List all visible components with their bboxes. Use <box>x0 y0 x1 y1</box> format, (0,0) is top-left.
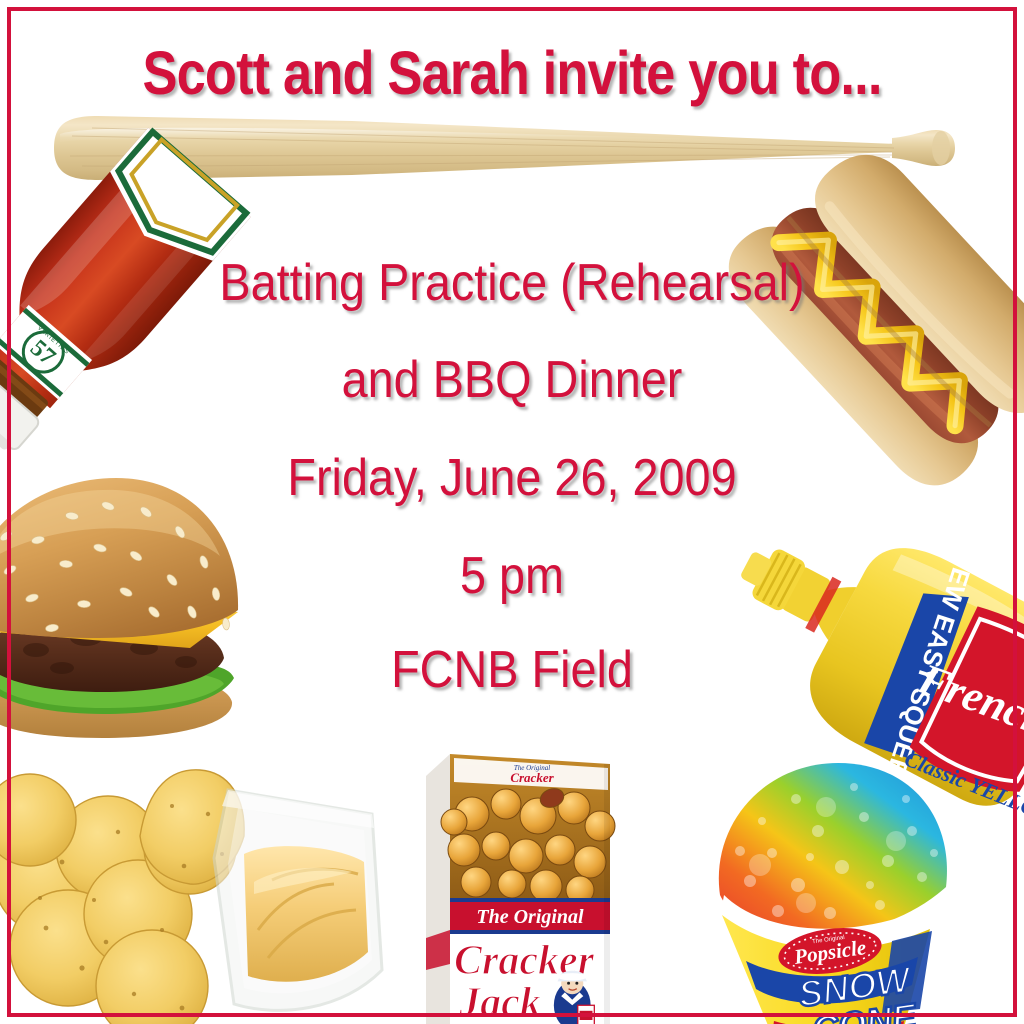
event-line-1: Batting Practice (Rehearsal) <box>51 253 973 313</box>
page-title: Scott and Sarah invite you to... <box>72 38 953 108</box>
invitation-card: 57 VARIETIES <box>0 0 1024 1024</box>
cracker-jack-box-image: The Original Cracker <box>420 742 616 1024</box>
event-venue: FCNB Field <box>51 640 973 700</box>
event-line-2: and BBQ Dinner <box>51 350 973 410</box>
event-time: 5 pm <box>51 546 973 606</box>
hot-dog-image <box>795 195 1024 480</box>
event-date: Friday, June 26, 2009 <box>51 448 973 508</box>
nachos-with-cheese-image <box>22 762 387 1024</box>
popsicle-snow-cone-image: The Original Popsicle SNOW CONE <box>706 745 958 1024</box>
crackerjack-original-banner: The Original <box>476 906 584 928</box>
crackerjack-top-brand: Cracker <box>510 770 554 785</box>
crackerjack-brand-line2: Jack <box>458 980 541 1024</box>
